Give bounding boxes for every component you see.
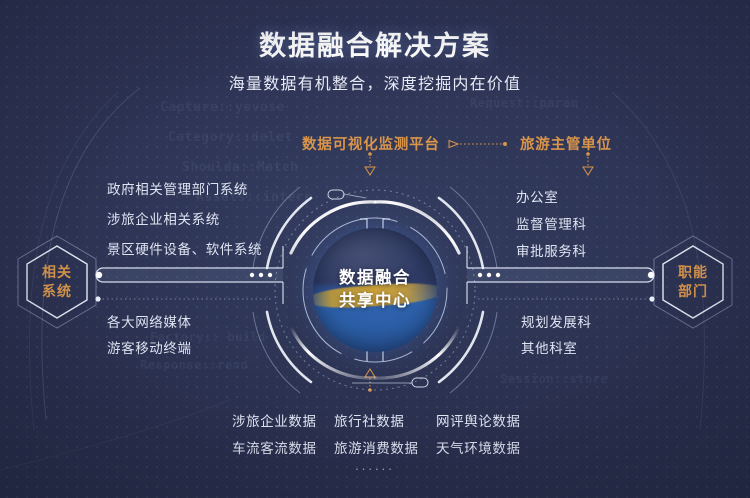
bottom-data-ellipsis: ...... [0,458,750,473]
left-list-item[interactable]: 景区硬件设备、软件系统 [107,238,262,258]
right-list-item[interactable]: 办公室 [516,186,558,206]
right-list-item[interactable]: 其他科室 [521,337,577,357]
right-list-item[interactable]: 监督管理科 [516,213,587,233]
center-label-line2: 共享中心 [339,290,411,313]
bottom-data-item[interactable]: 网评舆论数据 [436,410,521,430]
bottom-data-item[interactable]: 涉旅企业数据 [232,410,317,430]
bottom-data-item[interactable]: 旅游消费数据 [334,437,419,457]
hexagon-functional-departments[interactable]: 职能 部门 [650,234,736,330]
infographic-canvas: Capture::yovose Category::delet Shoulda:… [0,0,750,498]
hexagon-left-line2: 系统 [42,282,72,301]
center-label-line1: 数据融合 [339,267,411,290]
bottom-data-item[interactable]: 旅行社数据 [334,410,405,430]
right-list-item[interactable]: 规划发展科 [521,311,592,331]
hexagon-left-text: 相关 系统 [14,234,100,330]
hexagon-right-line1: 职能 [678,263,708,282]
hexagon-right-text: 职能 部门 [650,234,736,330]
bottom-data-item[interactable]: 天气环境数据 [436,437,521,457]
hexagon-left-line1: 相关 [42,263,72,282]
hexagon-related-systems[interactable]: 相关 系统 [14,234,100,330]
left-list-item[interactable]: 游客移动终端 [107,337,192,357]
center-label: 数据融合 共享中心 [313,228,437,352]
left-list-item[interactable]: 涉旅企业相关系统 [107,208,220,228]
bottom-data-item[interactable]: 车流客流数据 [232,437,317,457]
left-list-item[interactable]: 各大网络媒体 [107,311,192,331]
hexagon-right-line2: 部门 [678,282,708,301]
right-list-item[interactable]: 审批服务科 [516,240,587,260]
left-list-item[interactable]: 政府相关管理部门系统 [107,178,248,198]
